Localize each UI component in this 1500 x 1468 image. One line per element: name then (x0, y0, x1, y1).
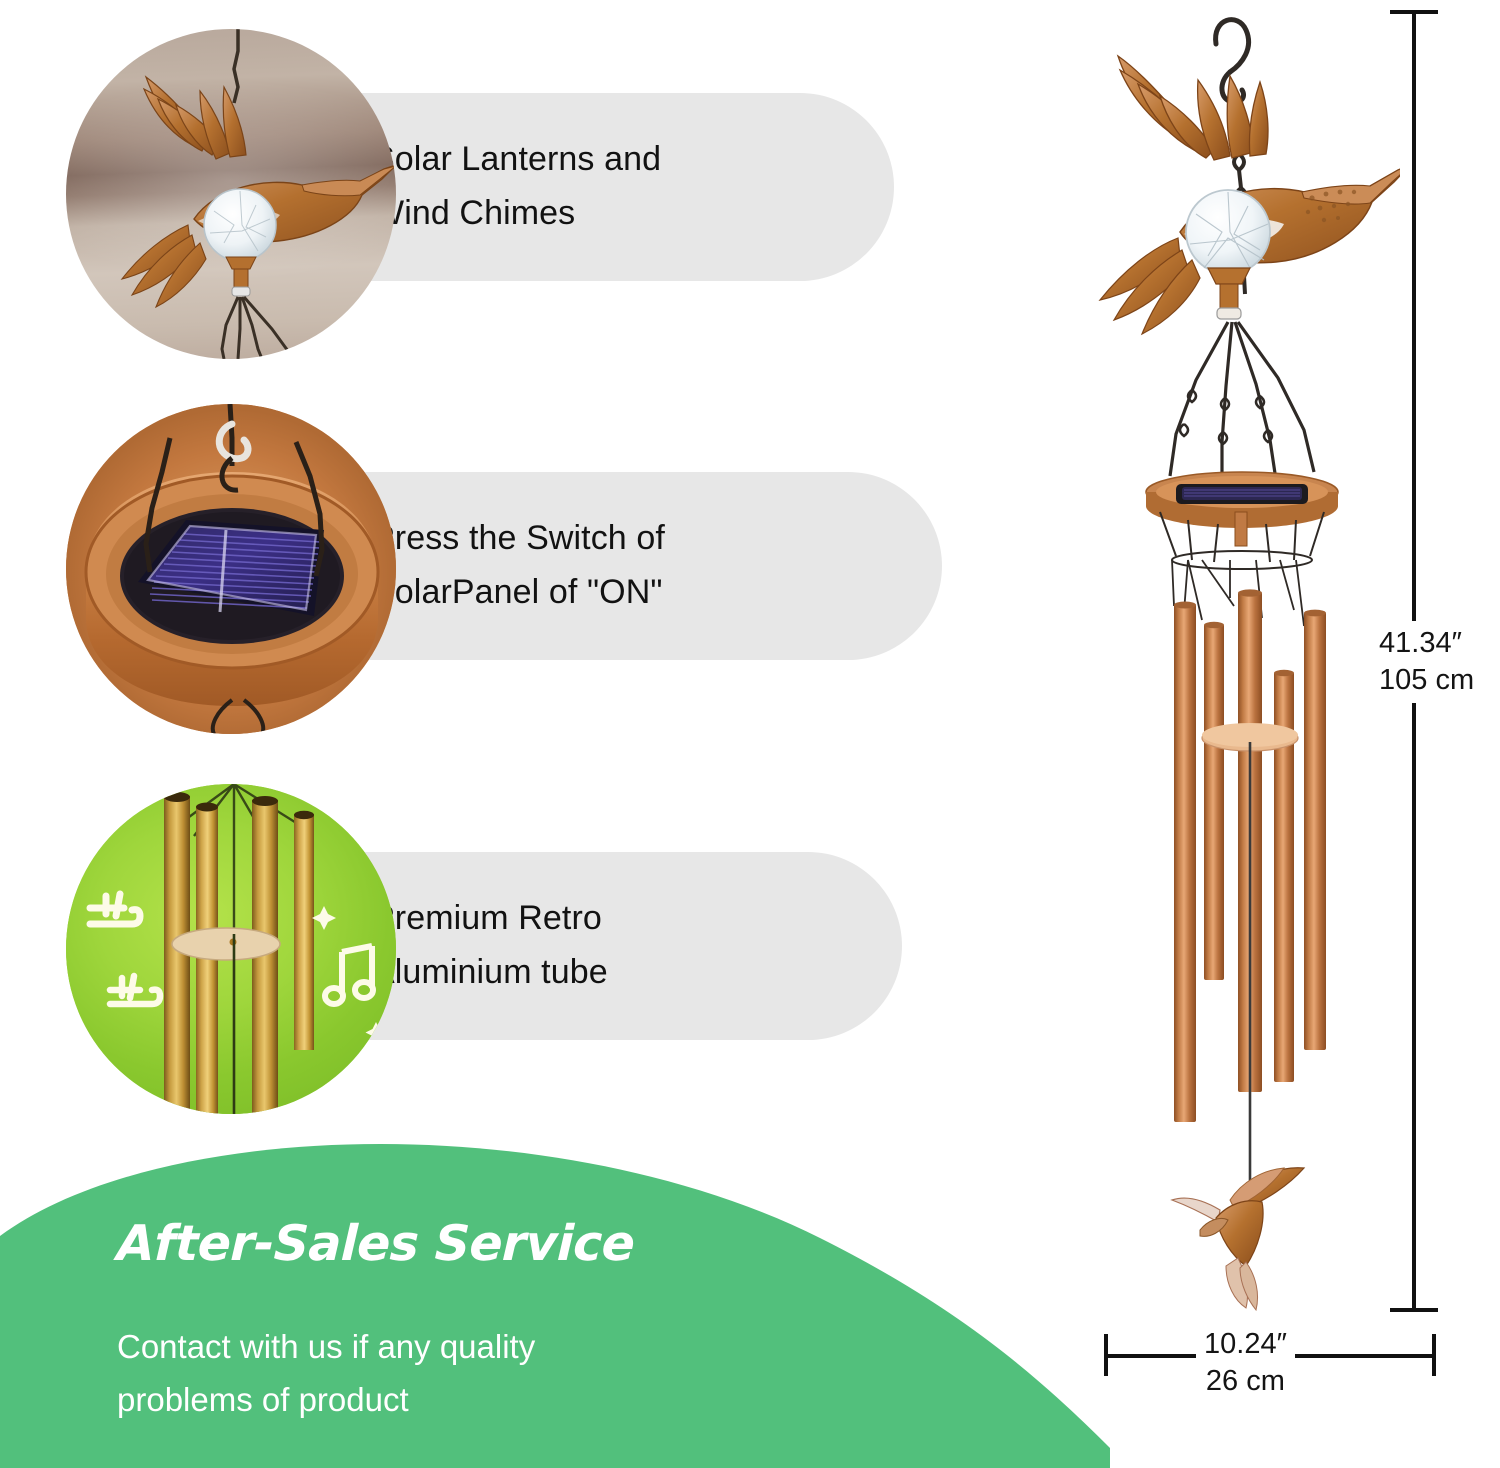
hummingbird-illustration-1 (66, 29, 396, 359)
feature-2-line-1: Press the Switch of (372, 512, 942, 566)
feature-1-line-2: Wind Chimes (372, 187, 894, 241)
hummingbird-wind-catcher (1172, 1168, 1304, 1310)
feature-3-line-1: Premium Retro (372, 892, 902, 946)
height-cm: 105 cm (1379, 662, 1474, 699)
width-inches: 10.24″ (1204, 1326, 1287, 1363)
hummingbird-with-crackle-glass-ball (1100, 56, 1400, 334)
banner-title: After-Sales Service (116, 1215, 635, 1272)
feature-2-line-2: SolarPanel of "ON" (372, 566, 942, 620)
height-dimension-cap-bottom (1390, 1308, 1438, 1312)
infographic-page: Solar Lanterns and Wind Chimes (0, 0, 1500, 1468)
height-dimension-label: 41.34″ 105 cm (1373, 621, 1480, 703)
width-dimension-cap-right (1432, 1334, 1436, 1376)
wind-swoosh-icon (90, 894, 140, 924)
aluminium-tubes-grass-photo (66, 784, 396, 1114)
sparkle-icon (312, 906, 387, 1043)
hummingbird-solar-lantern-photo (66, 29, 396, 359)
wind-swoosh-icon-2 (110, 976, 160, 1004)
aluminium-tubes-illustration (66, 784, 396, 1114)
solar-panel-closeup-photo (66, 404, 396, 734)
width-dimension-cap-left (1104, 1334, 1108, 1376)
feature-1-line-1: Solar Lanterns and (372, 133, 894, 187)
height-dimension-cap-top (1390, 10, 1438, 14)
width-dimension-label: 10.24″ 26 cm (1196, 1324, 1295, 1402)
hummingbird-wind-chime-illustration (1080, 0, 1400, 1330)
banner-subtitle-line-2: problems of product (117, 1373, 535, 1426)
music-note-icon (325, 946, 373, 1004)
solar-panel-illustration (66, 404, 396, 734)
banner-subtitle: Contact with us if any quality problems … (117, 1320, 535, 1427)
feature-3-line-2: Aluminium tube (372, 946, 902, 1000)
width-cm: 26 cm (1204, 1363, 1287, 1400)
height-inches: 41.34″ (1379, 625, 1474, 662)
solar-panel-disc (1146, 472, 1338, 569)
banner-subtitle-line-1: Contact with us if any quality (117, 1320, 535, 1373)
product-photo (1080, 0, 1400, 1330)
